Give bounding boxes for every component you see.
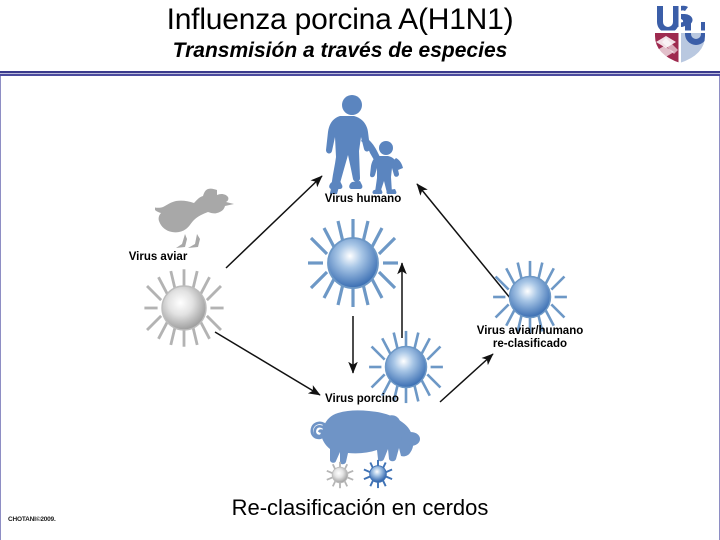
virus-particle-small-gray (325, 460, 355, 495)
title-block: Influenza porcina A(H1N1) Transmisión a … (40, 2, 640, 63)
virus-icon-small-gray (325, 460, 355, 490)
virus-icon-small-blue (362, 458, 394, 490)
node-label-swine: Virus porcino (297, 393, 427, 406)
duck-silhouette (155, 181, 245, 256)
node-label-reassortant-line2: re-clasificado (470, 338, 590, 351)
arrow-swine-to-reassortant (440, 354, 493, 402)
node-label-reassortant-line1: Virus aviar/humano (470, 325, 590, 338)
usu-shield-logo (652, 2, 708, 66)
virus-particle-human (303, 213, 403, 318)
node-label-human: Virus humano (298, 193, 428, 206)
virus-icon-gray (140, 264, 228, 352)
virus-icon-blue-human (303, 213, 403, 313)
duck-icon (155, 181, 245, 251)
copyright-notice: CHOTANI©2009. (8, 516, 56, 523)
adult-and-child-icon (318, 94, 414, 194)
virus-particle-avian (140, 264, 228, 357)
slide-caption: Re-clasificación en cerdos (0, 495, 720, 521)
human-silhouette (318, 94, 414, 199)
node-label-avian: Virus aviar (98, 251, 218, 264)
slide-canvas: Influenza porcina A(H1N1) Transmisión a … (0, 0, 720, 540)
slide-header: Influenza porcina A(H1N1) Transmisión a … (0, 0, 720, 76)
usu-shield-icon (652, 2, 708, 66)
transmission-diagram: Virus aviar (0, 76, 720, 540)
page-title: Influenza porcina A(H1N1) (40, 2, 640, 38)
arrow-avian-to-swine (215, 332, 320, 395)
page-subtitle: Transmisión a través de especies (40, 38, 640, 63)
virus-particle-small-blue (362, 458, 394, 495)
